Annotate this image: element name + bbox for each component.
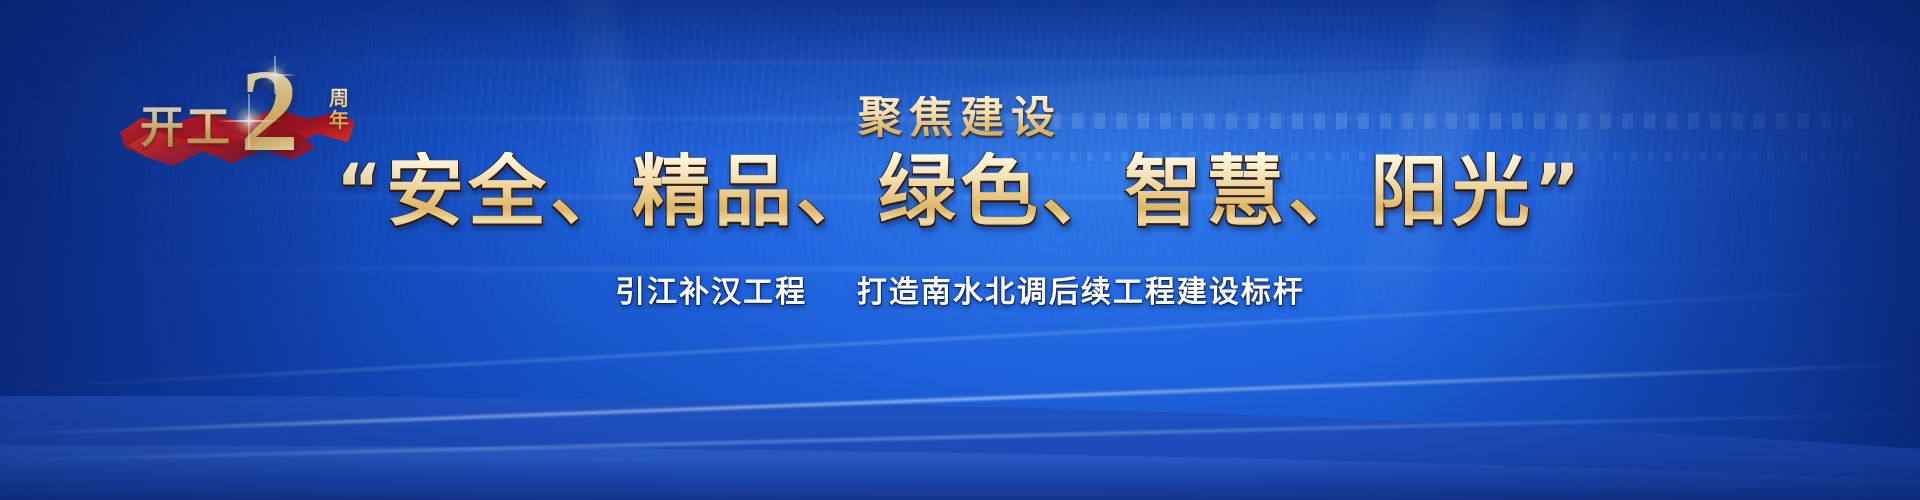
open-quote-mark: “ — [336, 149, 386, 231]
promotional-banner: 开工 2 周 年 聚焦建设 “安全、精品、绿色、智慧、阳光” 引江补汉工程 打造… — [0, 0, 1920, 500]
bottom-edge-shade — [0, 458, 1920, 500]
banner-subtitle: 引江补汉工程 打造南水北调后续工程建设标杆 — [0, 267, 1920, 311]
headline-main-text: 安全、精品、绿色、智慧、阳光 — [386, 147, 1534, 237]
banner-text-block: 聚焦建设 “安全、精品、绿色、智慧、阳光” 引江补汉工程 打造南水北调后续工程建… — [0, 96, 1920, 311]
close-quote-mark: ” — [1534, 149, 1584, 231]
banner-headline: “安全、精品、绿色、智慧、阳光” — [0, 152, 1920, 233]
banner-eyebrow-text: 聚焦建设 — [0, 96, 1920, 140]
